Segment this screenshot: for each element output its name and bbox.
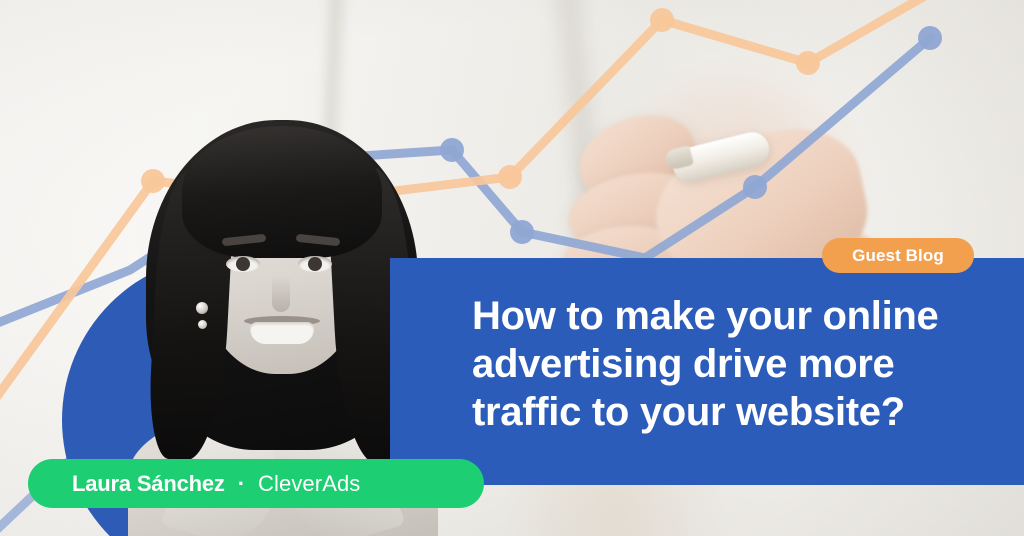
author-organization: CleverAds: [258, 471, 360, 497]
portrait-earring-top: [196, 302, 208, 314]
blog-banner: How to make your online advertising driv…: [0, 0, 1024, 536]
page-title: How to make your online advertising driv…: [472, 292, 1002, 436]
status-badge: Guest Blog: [822, 238, 974, 273]
headline-line-1: How to make your online: [472, 292, 1002, 340]
portrait-smile: [250, 322, 314, 344]
portrait-iris-left: [236, 257, 250, 271]
author-byline: Laura Sánchez · CleverAds: [28, 459, 484, 508]
headline-line-3: traffic to your website?: [472, 388, 1002, 436]
portrait-nose: [272, 276, 290, 312]
bullet-separator-icon: ·: [238, 471, 245, 497]
portrait-earring-bottom: [198, 320, 207, 329]
author-name: Laura Sánchez: [72, 471, 225, 497]
portrait-iris-right: [308, 257, 322, 271]
portrait-hair-front: [182, 126, 382, 258]
guest-blog-label: Guest Blog: [852, 246, 944, 266]
headline-line-2: advertising drive more: [472, 340, 1002, 388]
